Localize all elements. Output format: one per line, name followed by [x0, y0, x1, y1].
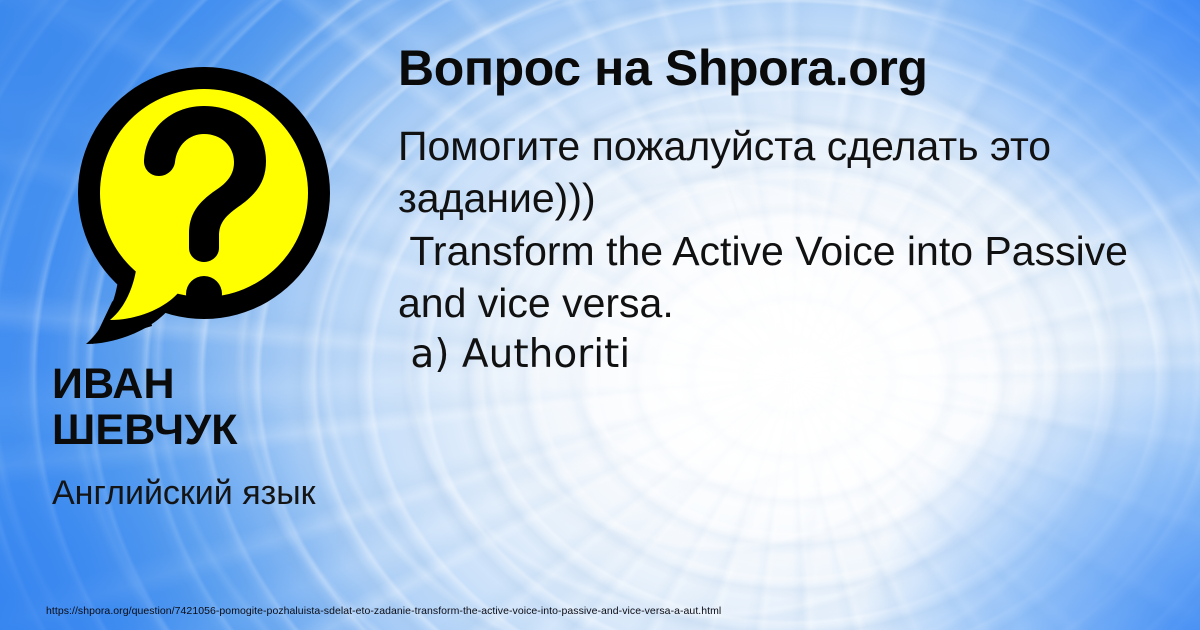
question-line-1: Помогите пожалуйста сделать это задание)…	[398, 120, 1188, 225]
question-card: ИВАН ШЕВЧУК Английский язык Вопрос на Sh…	[0, 0, 1200, 630]
question-line-3: a) Authoriti	[398, 330, 1188, 380]
author-block: ИВАН ШЕВЧУК Английский язык	[52, 362, 382, 513]
question-block: Вопрос на Shpora.org Помогите пожалуйста…	[398, 40, 1188, 380]
question-mark-icon	[48, 44, 360, 356]
url-bar: https://shpora.org/question/7421056-pomo…	[0, 592, 1200, 630]
source-url[interactable]: https://shpora.org/question/7421056-pomo…	[0, 605, 721, 617]
author-name: ИВАН ШЕВЧУК	[52, 362, 382, 453]
page-title: Вопрос на Shpora.org	[398, 40, 1188, 96]
subject-label: Английский язык	[52, 475, 382, 512]
question-line-2: Transform the Active Voice into Passive …	[398, 225, 1188, 330]
